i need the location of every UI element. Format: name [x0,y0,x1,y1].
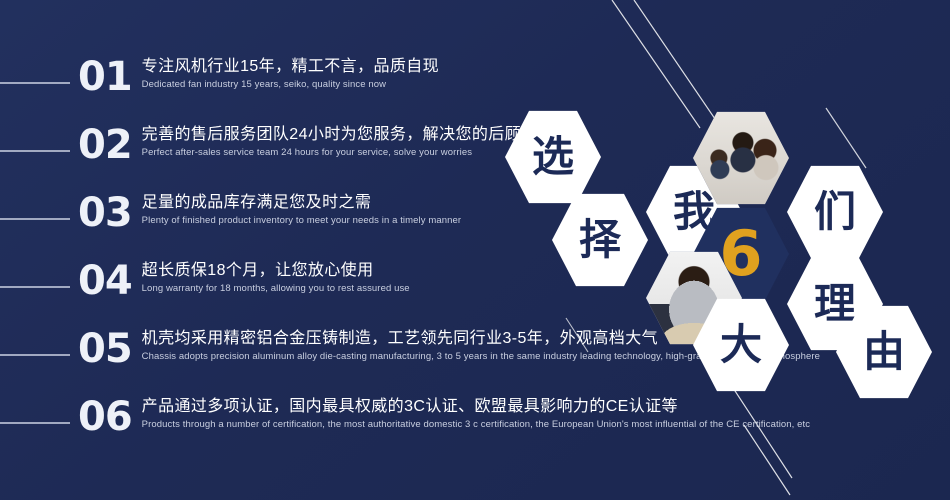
item-rule [0,82,70,84]
item-number: 04 [78,261,132,301]
hex-glyph: 大 [720,324,762,366]
item-rule [0,218,70,220]
list-item: 04 超长质保18个月，让您放心使用 Long warranty for 18 … [0,256,410,301]
item-rule [0,354,70,356]
item-rule [0,422,70,424]
item-text: 专注风机行业15年，精工不言，品质自现 Dedicated fan indust… [142,52,439,91]
item-rule [0,286,70,288]
hex-glyph: 择 [579,219,621,261]
item-subtitle-en: Plenty of finished product inventory to … [142,214,461,227]
item-rule [0,150,70,152]
hexagon-cluster: 选 择 我 们 6 大 理 由 [480,0,950,500]
item-title-cn: 专注风机行业15年，精工不言，品质自现 [142,56,439,77]
item-number: 06 [78,397,132,437]
item-text: 足量的成品库存满足您及时之需 Plenty of finished produc… [142,188,461,227]
item-number: 01 [78,57,132,97]
hex-glyph: 由 [863,331,905,373]
list-item: 01 专注风机行业15年，精工不言，品质自现 Dedicated fan ind… [0,52,439,97]
item-number: 02 [78,125,132,165]
item-subtitle-en: Dedicated fan industry 15 years, seiko, … [142,78,439,91]
item-number: 05 [78,329,132,369]
hex-cell-xuan: 选 [505,109,601,205]
item-title-cn: 足量的成品库存满足您及时之需 [142,192,461,213]
list-item: 02 完善的售后服务团队24小时为您服务，解决您的后顾之忧 Perfect af… [0,120,554,165]
item-text: 超长质保18个月，让您放心使用 Long warranty for 18 mon… [142,256,410,295]
hex-cell-men: 们 [787,164,883,260]
list-item: 03 足量的成品库存满足您及时之需 Plenty of finished pro… [0,188,461,233]
item-number: 03 [78,193,132,233]
hex-glyph: 理 [814,283,856,325]
hex-cell-ze: 择 [552,192,648,288]
banner-canvas: 01 专注风机行业15年，精工不言，品质自现 Dedicated fan ind… [0,0,950,500]
hex-glyph: 选 [532,136,574,178]
item-subtitle-en: Long warranty for 18 months, allowing yo… [142,282,410,295]
item-title-cn: 超长质保18个月，让您放心使用 [142,260,410,281]
hex-glyph: 们 [814,191,856,233]
